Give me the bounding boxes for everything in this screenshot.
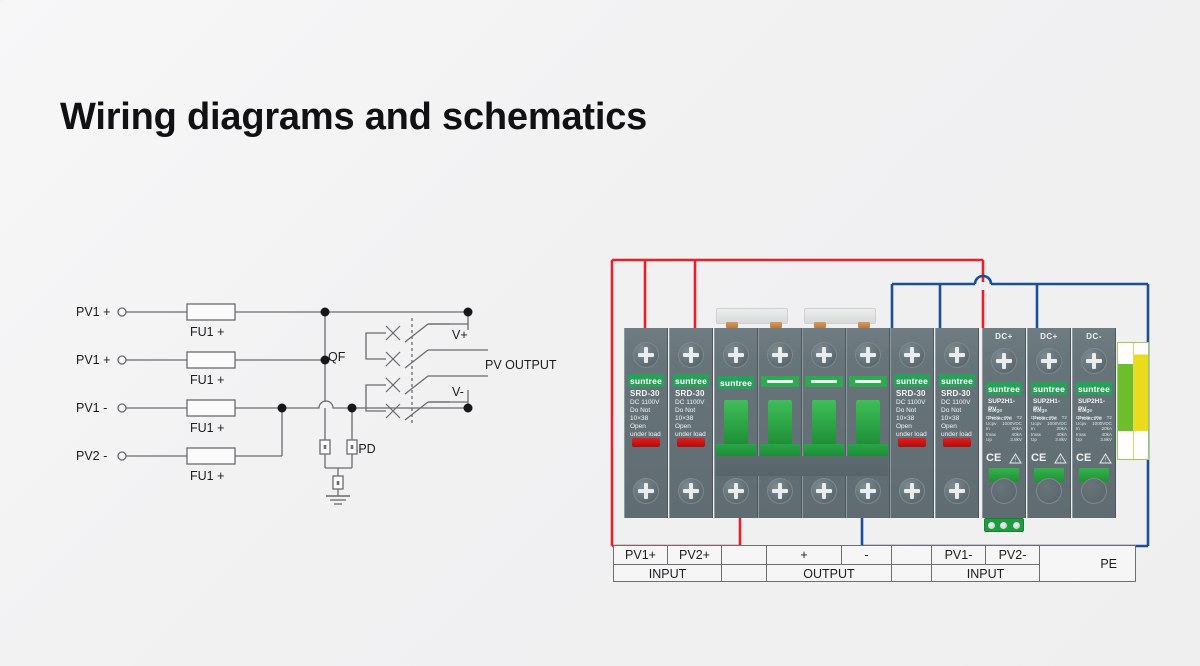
spd-bottom-terminal[interactable]	[991, 478, 1017, 504]
table-cell-pv1p: PV1+	[614, 546, 668, 564]
fuse-size: 10×38	[941, 415, 959, 422]
fuse-warn-1: Do Not	[630, 407, 650, 414]
terminal-screw-top[interactable]	[767, 342, 793, 368]
fuse-size: 10×38	[896, 415, 914, 422]
terminal-screw-top[interactable]	[1036, 348, 1062, 374]
fuse-warn-3: Open under load	[896, 423, 927, 438]
fuse-warn-3: Open under load	[630, 423, 661, 438]
table-cell-gap-1	[722, 546, 767, 564]
terminal-screw-bottom[interactable]	[633, 478, 659, 504]
pe-terminal-hole[interactable]	[1013, 522, 1020, 529]
breaker-spec-strip	[716, 456, 888, 476]
warning-triangle-icon: !	[1099, 453, 1112, 464]
table-cell-pv2p: PV2+	[668, 546, 722, 564]
ce-mark-icon: CE	[1076, 452, 1091, 464]
fuse-voltage: DC 1100V	[896, 399, 926, 406]
brand-label: suntree	[673, 374, 709, 387]
spd-bottom-terminal[interactable]	[1036, 478, 1062, 504]
table-cell-out-negative: -	[842, 546, 892, 564]
terminal-screw-bottom[interactable]	[899, 478, 925, 504]
terminal-screw-top[interactable]	[899, 342, 925, 368]
fuse-warn-1: Do Not	[896, 407, 916, 414]
pe-bar-green	[1118, 343, 1133, 459]
assembly-photo: suntree SRD-30 DC 1100V Do Not 10×38 Ope…	[600, 250, 1160, 595]
spd-spec-block: DevicePVT2 Ucpv1000VDC In20kA Imax40kA U…	[986, 415, 1022, 443]
breaker-toggle[interactable]	[724, 400, 748, 444]
pe-bar-yellow	[1133, 343, 1148, 459]
spd-terminal-label: DC+	[983, 332, 1025, 341]
terminal-screw-bottom[interactable]	[678, 478, 704, 504]
terminal-screw-bottom[interactable]	[723, 478, 749, 504]
fuse-model: SRD-30	[941, 389, 971, 398]
pe-bar	[1117, 342, 1149, 460]
circuit-breaker-pole-1[interactable]: suntree	[714, 328, 758, 518]
fuse-model: SRD-30	[675, 389, 705, 398]
terminal-screw-top[interactable]	[811, 342, 837, 368]
schematic-junction-dot	[348, 404, 357, 413]
terminal-screw-top[interactable]	[678, 342, 704, 368]
fuse-holder-spec: SRD-30 DC 1100V Do Not 10×38 Open under …	[673, 390, 709, 439]
fuse-size: 10×38	[630, 415, 648, 422]
breaker-band	[805, 376, 843, 387]
brand-label: suntree	[1031, 382, 1067, 395]
brand-label: suntree	[986, 382, 1022, 395]
table-cell-input-right: INPUT	[932, 564, 1040, 582]
fuse-warn-1: Do Not	[941, 407, 961, 414]
spd-cert-row: CE !	[1031, 452, 1067, 464]
brand-label: suntree	[894, 374, 930, 387]
schematic-junction-dot	[464, 404, 473, 413]
brand-label: suntree	[1076, 382, 1112, 395]
ce-mark-icon: CE	[1031, 452, 1046, 464]
breaker-toggle[interactable]	[812, 400, 836, 444]
fuse-holder-4[interactable]: suntree SRD-30 DC 1100V Do Not 10×38 Ope…	[935, 328, 979, 518]
spd-module-2[interactable]: DC+ suntree SUP2H1-PV Surge Protective D…	[1027, 328, 1071, 518]
fuse-voltage: DC 1100V	[941, 399, 971, 406]
fuse-holder-2[interactable]: suntree SRD-30 DC 1100V Do Not 10×38 Ope…	[669, 328, 713, 518]
page-root: Wiring diagrams and schematics PV1 + PV1…	[0, 0, 1200, 666]
pe-terminal-block[interactable]	[984, 518, 1024, 532]
terminal-screw-bottom[interactable]	[811, 478, 837, 504]
ce-mark-icon: CE	[986, 452, 1001, 464]
terminal-legend-table: PV1+ PV2+ + - PV1- PV2- INPUT OUTPUT INP…	[613, 545, 1136, 582]
schematic-junction-dot	[464, 308, 473, 317]
fuse-holder-3[interactable]: suntree SRD-30 DC 1100V Do Not 10×38 Ope…	[890, 328, 934, 518]
pe-terminal-hole[interactable]	[988, 522, 995, 529]
table-cell-pv1n: PV1-	[932, 546, 986, 564]
spd-module-1[interactable]: DC+ suntree SUP2H1-PV Surge Protective D…	[982, 328, 1026, 518]
breaker-band	[849, 376, 887, 387]
terminal-screw-bottom[interactable]	[944, 478, 970, 504]
terminal-screw-top[interactable]	[633, 342, 659, 368]
fuse-holder-spec: SRD-30 DC 1100V Do Not 10×38 Open under …	[628, 390, 664, 439]
brand-label: suntree	[939, 374, 975, 387]
terminal-screw-top[interactable]	[723, 342, 749, 368]
fuse-indicator-bar	[677, 438, 705, 447]
pe-terminal-hole[interactable]	[1000, 522, 1007, 529]
table-cell-input-left: INPUT	[614, 564, 722, 582]
breaker-toggle[interactable]	[768, 400, 792, 444]
fuse-size: 10×38	[675, 415, 693, 422]
terminal-screw-top[interactable]	[1081, 348, 1107, 374]
table-cell-gap-2	[892, 546, 932, 564]
fuse-warn-1: Do Not	[675, 407, 695, 414]
schematic-diagram: PV1 + PV1 + PV1 - PV2 - FU1 + FU1 + FU1 …	[60, 290, 560, 520]
brand-label: suntree	[628, 374, 664, 387]
schematic-junction-dot	[321, 308, 330, 317]
terminal-screw-top[interactable]	[991, 348, 1017, 374]
page-title: Wiring diagrams and schematics	[60, 96, 647, 139]
table-cell-out-positive: +	[767, 546, 842, 564]
table-cell-pv2n: PV2-	[986, 546, 1040, 564]
fuse-indicator-bar	[632, 438, 660, 447]
spd-module-3[interactable]: DC- suntree SUP2H1-PV Surge Protective D…	[1072, 328, 1116, 518]
terminal-screw-top[interactable]	[944, 342, 970, 368]
breaker-band	[761, 376, 799, 387]
table-cell-gap-3	[722, 564, 767, 582]
breaker-toggle[interactable]	[856, 400, 880, 444]
circuit-breaker-pole-2[interactable]	[758, 328, 802, 518]
schematic-svg	[60, 290, 560, 520]
terminal-screw-bottom[interactable]	[855, 478, 881, 504]
terminal-screw-bottom[interactable]	[767, 478, 793, 504]
schematic-junction-dot	[321, 356, 330, 365]
circuit-breaker-pole-4[interactable]	[846, 328, 890, 518]
fuse-voltage: DC 1100V	[630, 399, 660, 406]
fuse-model: SRD-30	[630, 389, 660, 398]
fuse-voltage: DC 1100V	[675, 399, 705, 406]
spd-spec-block: DevicePVT2 Ucpv1000VDC In20kA Imax40kA U…	[1031, 415, 1067, 443]
spd-spec-block: DevicePVT2 Ucpv1000VDC In20kA Imax40kA U…	[1076, 415, 1112, 443]
terminal-screw-top[interactable]	[855, 342, 881, 368]
spd-cert-row: CE !	[986, 452, 1022, 464]
spd-terminal-label: DC+	[1028, 332, 1070, 341]
spd-bottom-terminal[interactable]	[1081, 478, 1107, 504]
fuse-holder-spec: SRD-30 DC 1100V Do Not 10×38 Open under …	[894, 390, 930, 439]
brand-label: suntree	[718, 376, 754, 389]
fuse-model: SRD-30	[896, 389, 926, 398]
fuse-holder-spec: SRD-30 DC 1100V Do Not 10×38 Open under …	[939, 390, 975, 439]
table-cell-output: OUTPUT	[767, 564, 892, 582]
fuse-warn-3: Open under load	[675, 423, 706, 438]
table-cell-gap-4	[892, 564, 932, 582]
table-cell-pe: PE	[1040, 546, 1135, 582]
warning-triangle-icon: !	[1054, 453, 1067, 464]
fuse-holder-1[interactable]: suntree SRD-30 DC 1100V Do Not 10×38 Ope…	[624, 328, 668, 518]
warning-triangle-icon: !	[1009, 453, 1022, 464]
schematic-junction-dot	[278, 404, 287, 413]
fuse-warn-3: Open under load	[941, 423, 972, 438]
fuse-indicator-bar	[943, 438, 971, 447]
fuse-indicator-bar	[898, 438, 926, 447]
spd-cert-row: CE !	[1076, 452, 1112, 464]
circuit-breaker-pole-3[interactable]	[802, 328, 846, 518]
spd-terminal-label: DC-	[1073, 332, 1115, 341]
